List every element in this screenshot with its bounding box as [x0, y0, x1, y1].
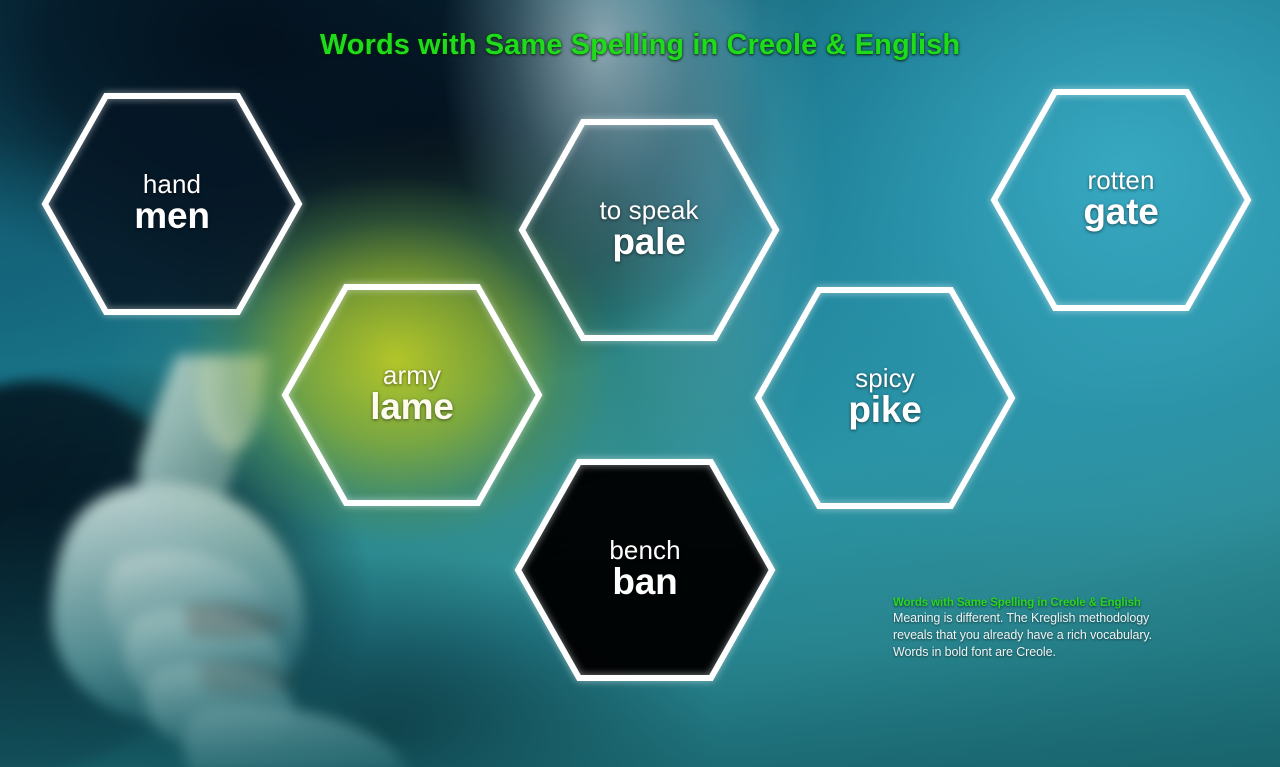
hex-creole-word: pike [848, 391, 921, 429]
hex-creole-word: pale [599, 223, 698, 261]
caption-line-3: Words in bold font are Creole. [893, 644, 1233, 661]
hex-card-rotten-gate[interactable]: rotten gate [990, 88, 1252, 312]
page-title: Words with Same Spelling in Creole & Eng… [0, 29, 1280, 62]
hex-creole-word: ban [609, 563, 680, 601]
hex-english-word: hand [134, 171, 209, 198]
hex-creole-word: men [134, 197, 209, 235]
hex-english-word: to speak [599, 197, 698, 224]
caption-heading: Words with Same Spelling in Creole & Eng… [893, 597, 1233, 609]
hex-label-rotten-gate: rotten gate [1083, 167, 1158, 232]
infographic-canvas: Words with Same Spelling in Creole & Eng… [0, 0, 1280, 767]
hex-english-word: spicy [848, 365, 921, 392]
caption-line-2: reveals that you already have a rich voc… [893, 627, 1233, 644]
hex-label-army-lame: army lame [370, 362, 454, 427]
hex-label-bench-ban: bench ban [609, 537, 680, 602]
hex-card-speak-pale[interactable]: to speak pale [518, 118, 780, 342]
hex-card-hand-men[interactable]: hand men [41, 92, 303, 316]
hex-english-word: rotten [1083, 167, 1158, 194]
hex-english-word: army [370, 362, 454, 389]
hex-english-word: bench [609, 537, 680, 564]
hex-creole-word: gate [1083, 193, 1158, 231]
caption-block: Words with Same Spelling in Creole & Eng… [893, 597, 1233, 661]
hex-label-spicy-pike: spicy pike [848, 365, 921, 430]
hex-card-army-lame[interactable]: army lame [281, 283, 543, 507]
hex-label-hand-men: hand men [134, 171, 209, 236]
hex-card-spicy-pike[interactable]: spicy pike [754, 286, 1016, 510]
caption-line-1: Meaning is different. The Kreglish metho… [893, 610, 1233, 627]
hex-label-speak-pale: to speak pale [599, 197, 698, 262]
hex-card-bench-ban[interactable]: bench ban [514, 458, 776, 682]
hex-creole-word: lame [370, 388, 454, 426]
